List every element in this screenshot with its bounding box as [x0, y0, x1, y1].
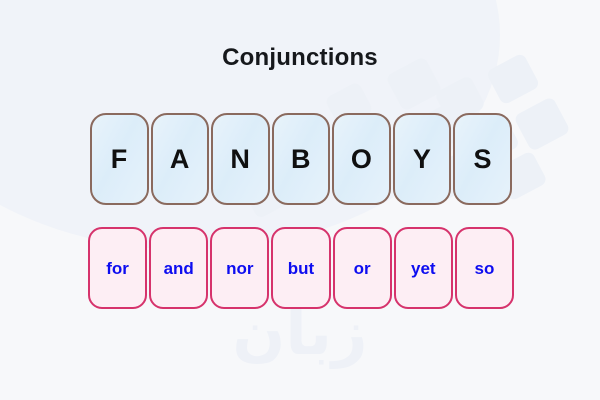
- word-card-label: nor: [226, 260, 253, 277]
- word-card-label: yet: [411, 260, 436, 277]
- letter-card[interactable]: S: [453, 113, 512, 205]
- letter-card-label: N: [230, 146, 250, 173]
- infographic-canvas: زبان زبان Conjunctions F A N B O Y S for: [0, 0, 600, 400]
- letter-card[interactable]: A: [151, 113, 210, 205]
- word-card-row: for and nor but or yet so: [88, 227, 514, 311]
- letter-card[interactable]: O: [332, 113, 391, 205]
- word-card[interactable]: but: [271, 227, 330, 309]
- word-card[interactable]: nor: [210, 227, 269, 309]
- letter-card-label: B: [291, 146, 311, 173]
- word-card-label: but: [288, 260, 314, 277]
- letter-card-row: F A N B O Y S: [90, 113, 512, 207]
- letter-card-label: O: [351, 146, 373, 173]
- word-card-label: so: [474, 260, 494, 277]
- word-card[interactable]: yet: [394, 227, 453, 309]
- letter-card-label: F: [111, 146, 128, 173]
- page-title: Conjunctions: [0, 44, 600, 72]
- word-card[interactable]: so: [455, 227, 514, 309]
- word-card-label: or: [354, 260, 371, 277]
- letter-card-label: S: [473, 146, 492, 173]
- word-card[interactable]: and: [149, 227, 208, 309]
- letter-card[interactable]: F: [90, 113, 149, 205]
- letter-card[interactable]: N: [211, 113, 270, 205]
- word-card-label: for: [106, 260, 129, 277]
- letter-card[interactable]: B: [272, 113, 331, 205]
- letter-card-label: A: [170, 146, 190, 173]
- word-card[interactable]: or: [333, 227, 392, 309]
- word-card-label: and: [164, 260, 194, 277]
- word-card[interactable]: for: [88, 227, 147, 309]
- background-square-icon: [513, 96, 571, 152]
- letter-card-label: Y: [413, 146, 432, 173]
- letter-card[interactable]: Y: [393, 113, 452, 205]
